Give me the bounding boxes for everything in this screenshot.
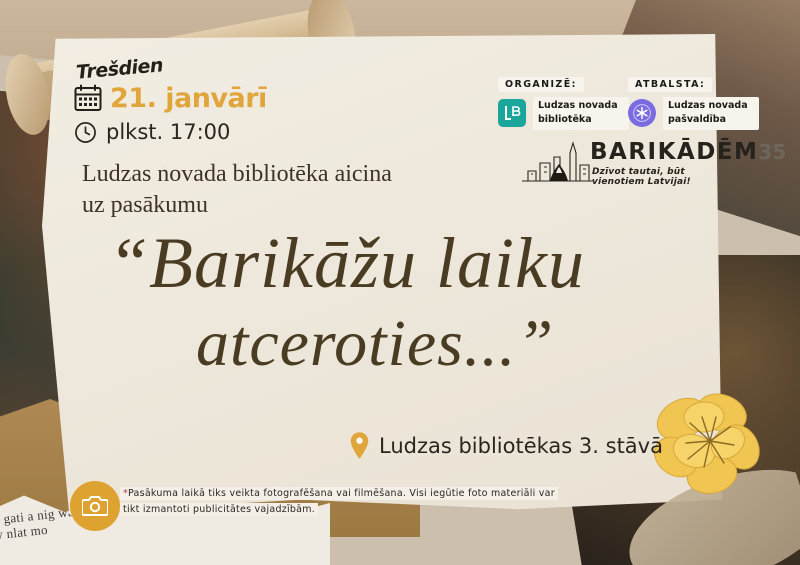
event-poster: or gati a nig watch lay llac som me uni …	[0, 0, 800, 565]
supporter-block: ATBALSTA: Ludzas novada pašvaldība	[628, 74, 759, 130]
event-time: plkst. 17:00	[106, 120, 230, 144]
invitation-line-1: Ludzas novada bibliotēka aicina	[82, 159, 502, 190]
municipality-logo-icon	[628, 99, 656, 127]
barikadem-text: BARIKĀDĒM	[590, 139, 758, 165]
barikadem-tagline: Dzīvot tautai, būt vienotiem Latvijai!	[592, 167, 734, 187]
barricade-skyline-icon	[520, 137, 596, 189]
supporter-row: Ludzas novada pašvaldība	[628, 97, 759, 130]
event-title: “Barikāžu laiku atceroties...”	[0, 225, 760, 379]
clock-icon	[74, 121, 97, 144]
photo-disclaimer: *Pasākuma laikā tiks veikta fotografēšan…	[120, 486, 570, 517]
location-row: Ludzas bibliotēkas 3. stāvā	[350, 432, 663, 459]
barikadem-logo: BARIKĀDĒM35 Dzīvot tautai, būt vienotiem…	[520, 137, 734, 191]
weekday-label: Trešdien	[75, 54, 164, 83]
barikadem-anniversary: 35	[758, 140, 786, 164]
date-row: 21. janvārī	[74, 84, 267, 112]
title-line-1: “Barikāžu laiku	[108, 225, 760, 301]
library-logo-icon	[498, 99, 526, 127]
event-location: Ludzas bibliotēkas 3. stāvā	[379, 434, 663, 458]
title-line-2: atceroties...”	[196, 309, 760, 379]
disclaimer-line-1: Pasākuma laikā tiks veikta fotografēšana…	[128, 488, 555, 499]
organizer-block: ORGANIZĒ: Ludzas novada bibliotēka	[498, 74, 629, 130]
organizer-tag: ORGANIZĒ:	[498, 77, 584, 92]
disclaimer-line-2: tikt izmantoti publicitātes vajadzībām.	[120, 503, 318, 516]
camera-badge	[70, 481, 120, 531]
location-pin-icon	[350, 432, 369, 459]
event-date: 21. janvārī	[110, 85, 267, 112]
time-row: plkst. 17:00	[74, 120, 230, 144]
supporter-name: Ludzas novada pašvaldība	[663, 97, 759, 130]
invitation-text: Ludzas novada bibliotēka aicina uz pasāk…	[82, 159, 502, 220]
barikadem-word: BARIKĀDĒM35	[590, 139, 786, 165]
organizer-name: Ludzas novada bibliotēka	[533, 97, 629, 130]
camera-icon	[82, 495, 108, 517]
supporter-tag: ATBALSTA:	[628, 77, 712, 92]
invitation-line-2: uz pasākumu	[82, 190, 502, 221]
calendar-icon	[74, 84, 102, 112]
organizer-row: Ludzas novada bibliotēka	[498, 97, 629, 130]
